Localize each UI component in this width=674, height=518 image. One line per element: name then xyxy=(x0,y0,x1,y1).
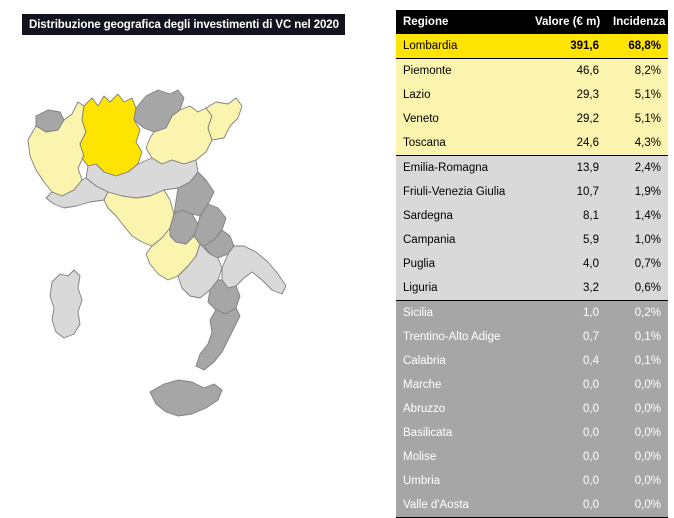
cell-region: Valle d'Aosta xyxy=(396,493,528,518)
cell-value: 0,4 xyxy=(528,349,606,373)
table-row: Molise 0,0 0,0% xyxy=(396,445,668,469)
cell-share: 5,1% xyxy=(606,107,668,131)
cell-region: Sardegna xyxy=(396,204,528,228)
table-row: Umbria 0,0 0,0% xyxy=(396,469,668,493)
map-region-sicilia xyxy=(150,380,222,416)
cell-region: Veneto xyxy=(396,107,528,131)
table-row: Friuli-Venezia Giulia 10,7 1,9% xyxy=(396,180,668,204)
cell-share: 0,6% xyxy=(606,276,668,301)
cell-value: 0,0 xyxy=(528,421,606,445)
cell-region: Calabria xyxy=(396,349,528,373)
cell-share: 8,2% xyxy=(606,59,668,84)
table-row: Campania 5,9 1,0% xyxy=(396,228,668,252)
cell-value: 10,7 xyxy=(528,180,606,204)
cell-region: Umbria xyxy=(396,469,528,493)
cell-share: 0,0% xyxy=(606,469,668,493)
cell-value: 24,6 xyxy=(528,131,606,156)
cell-region: Molise xyxy=(396,445,528,469)
cell-share: 5,1% xyxy=(606,83,668,107)
cell-region: Campania xyxy=(396,228,528,252)
column-header-value: Valore (€ m) xyxy=(528,10,606,34)
cell-region: Toscana xyxy=(396,131,528,156)
cell-region: Piemonte xyxy=(396,59,528,84)
column-header-region: Regione xyxy=(396,10,528,34)
cell-region: Trentino-Alto Adige xyxy=(396,325,528,349)
cell-value: 29,3 xyxy=(528,83,606,107)
cell-region: Puglia xyxy=(396,252,528,276)
cell-value: 5,9 xyxy=(528,228,606,252)
table-row: Veneto 29,2 5,1% xyxy=(396,107,668,131)
cell-share: 0,0% xyxy=(606,373,668,397)
table-row: Toscana 24,6 4,3% xyxy=(396,131,668,156)
cell-region: Liguria xyxy=(396,276,528,301)
cell-share: 0,0% xyxy=(606,445,668,469)
table-header-row: Regione Valore (€ m) Incidenza xyxy=(396,10,668,34)
cell-value: 29,2 xyxy=(528,107,606,131)
cell-value: 0,7 xyxy=(528,325,606,349)
table-row: Lombardia 391,6 68,8% xyxy=(396,34,668,59)
cell-region: Emilia-Romagna xyxy=(396,156,528,181)
italy-choropleth-map xyxy=(0,40,390,490)
table-row: Piemonte 46,6 8,2% xyxy=(396,59,668,84)
table-row: Marche 0,0 0,0% xyxy=(396,373,668,397)
cell-value: 0,0 xyxy=(528,397,606,421)
regions-investment-table: Regione Valore (€ m) Incidenza Lombardia… xyxy=(396,10,668,518)
cell-region: Lazio xyxy=(396,83,528,107)
table-row: Trentino-Alto Adige 0,7 0,1% xyxy=(396,325,668,349)
cell-share: 2,4% xyxy=(606,156,668,181)
table-row: Basilicata 0,0 0,0% xyxy=(396,421,668,445)
cell-share: 1,4% xyxy=(606,204,668,228)
cell-share: 0,0% xyxy=(606,397,668,421)
table-row: Sicilia 1,0 0,2% xyxy=(396,301,668,326)
table-row: Lazio 29,3 5,1% xyxy=(396,83,668,107)
cell-share: 4,3% xyxy=(606,131,668,156)
table-body: Lombardia 391,6 68,8% Piemonte 46,6 8,2%… xyxy=(396,34,668,518)
cell-value: 8,1 xyxy=(528,204,606,228)
map-region-lombardia xyxy=(80,94,142,176)
cell-region: Lombardia xyxy=(396,34,528,59)
column-header-share: Incidenza xyxy=(606,10,668,34)
table-row: Emilia-Romagna 13,9 2,4% xyxy=(396,156,668,181)
cell-value: 0,0 xyxy=(528,445,606,469)
table-row: Puglia 4,0 0,7% xyxy=(396,252,668,276)
map-panel: Distribuzione geografica degli investime… xyxy=(0,0,390,494)
cell-value: 0,0 xyxy=(528,493,606,518)
cell-share: 1,0% xyxy=(606,228,668,252)
cell-value: 46,6 xyxy=(528,59,606,84)
cell-value: 0,0 xyxy=(528,373,606,397)
cell-share: 0,0% xyxy=(606,493,668,518)
map-region-sardegna xyxy=(50,270,82,338)
cell-region: Marche xyxy=(396,373,528,397)
chart-title-bar: Distribuzione geografica degli investime… xyxy=(22,14,345,35)
table-row: Liguria 3,2 0,6% xyxy=(396,276,668,301)
regions-table-panel: Regione Valore (€ m) Incidenza Lombardia… xyxy=(396,10,668,518)
cell-share: 0,1% xyxy=(606,349,668,373)
cell-value: 13,9 xyxy=(528,156,606,181)
cell-value: 391,6 xyxy=(528,34,606,59)
map-region-friuli-venezia-giulia xyxy=(206,98,242,140)
table-row: Valle d'Aosta 0,0 0,0% xyxy=(396,493,668,518)
cell-region: Basilicata xyxy=(396,421,528,445)
cell-region: Friuli-Venezia Giulia xyxy=(396,180,528,204)
cell-share: 0,2% xyxy=(606,301,668,326)
cell-share: 0,0% xyxy=(606,421,668,445)
cell-share: 68,8% xyxy=(606,34,668,59)
cell-value: 4,0 xyxy=(528,252,606,276)
cell-value: 0,0 xyxy=(528,469,606,493)
cell-region: Sicilia xyxy=(396,301,528,326)
cell-share: 0,7% xyxy=(606,252,668,276)
cell-value: 1,0 xyxy=(528,301,606,326)
map-region-calabria xyxy=(196,308,240,370)
cell-region: Abruzzo xyxy=(396,397,528,421)
table-row: Abruzzo 0,0 0,0% xyxy=(396,397,668,421)
table-row: Sardegna 8,1 1,4% xyxy=(396,204,668,228)
cell-share: 0,1% xyxy=(606,325,668,349)
table-row: Calabria 0,4 0,1% xyxy=(396,349,668,373)
cell-share: 1,9% xyxy=(606,180,668,204)
page-title: Distribuzione geografica degli investime… xyxy=(22,19,339,31)
cell-value: 3,2 xyxy=(528,276,606,301)
